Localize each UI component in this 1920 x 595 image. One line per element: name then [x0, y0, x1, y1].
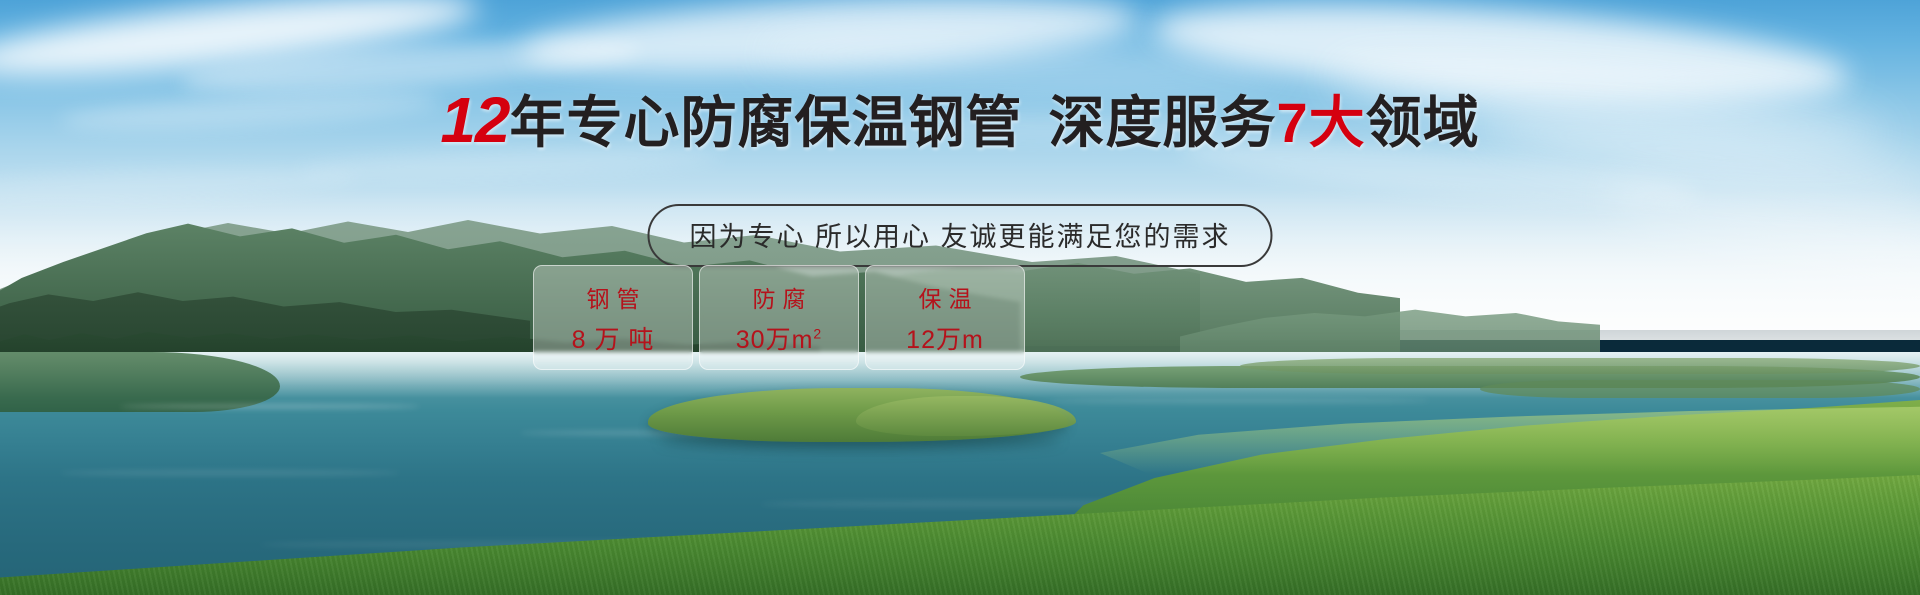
hero-banner: 12年专心防腐保温钢管深度服务7大领域 因为专心 所以用心 友诚更能满足您的需求… — [0, 0, 1920, 595]
stat-card-value-text: 12万m — [906, 326, 984, 354]
headline-part-two: 深度服务 — [1049, 91, 1277, 154]
stat-card-value-superscript: 2 — [813, 325, 822, 341]
stat-card-anticorrosion[interactable]: 防腐 30万m2 — [699, 265, 859, 370]
stat-cards: 钢管 8 万 吨 防腐 30万m2 保温 12万m — [533, 265, 1025, 370]
stat-card-label: 钢管 — [580, 280, 647, 314]
headline-highlight: 7大 — [1277, 91, 1366, 154]
stat-card-insulation[interactable]: 保温 12万m — [865, 265, 1025, 370]
stat-card-value: 8 万 吨 — [572, 320, 655, 356]
stat-card-value-text: 30万m — [736, 326, 814, 354]
stat-card-steel-pipe[interactable]: 钢管 8 万 吨 — [533, 265, 693, 370]
banner-headline: 12年专心防腐保温钢管深度服务7大领域 — [0, 88, 1920, 152]
headline-part-one: 年专心防腐保温钢管 — [510, 91, 1023, 154]
headline-years-number: 12 — [440, 84, 509, 156]
banner-subtitle: 因为专心 所以用心 友诚更能满足您的需求 — [647, 204, 1272, 267]
stat-card-label: 防腐 — [746, 280, 813, 314]
banner-content: 12年专心防腐保温钢管深度服务7大领域 因为专心 所以用心 友诚更能满足您的需求… — [0, 0, 1920, 595]
headline-part-three: 领域 — [1366, 91, 1480, 154]
stat-card-value: 12万m — [906, 320, 984, 356]
stat-card-value-text: 8 万 吨 — [572, 326, 655, 354]
stat-card-value: 30万m2 — [736, 320, 822, 356]
stat-card-label: 保温 — [912, 280, 979, 314]
